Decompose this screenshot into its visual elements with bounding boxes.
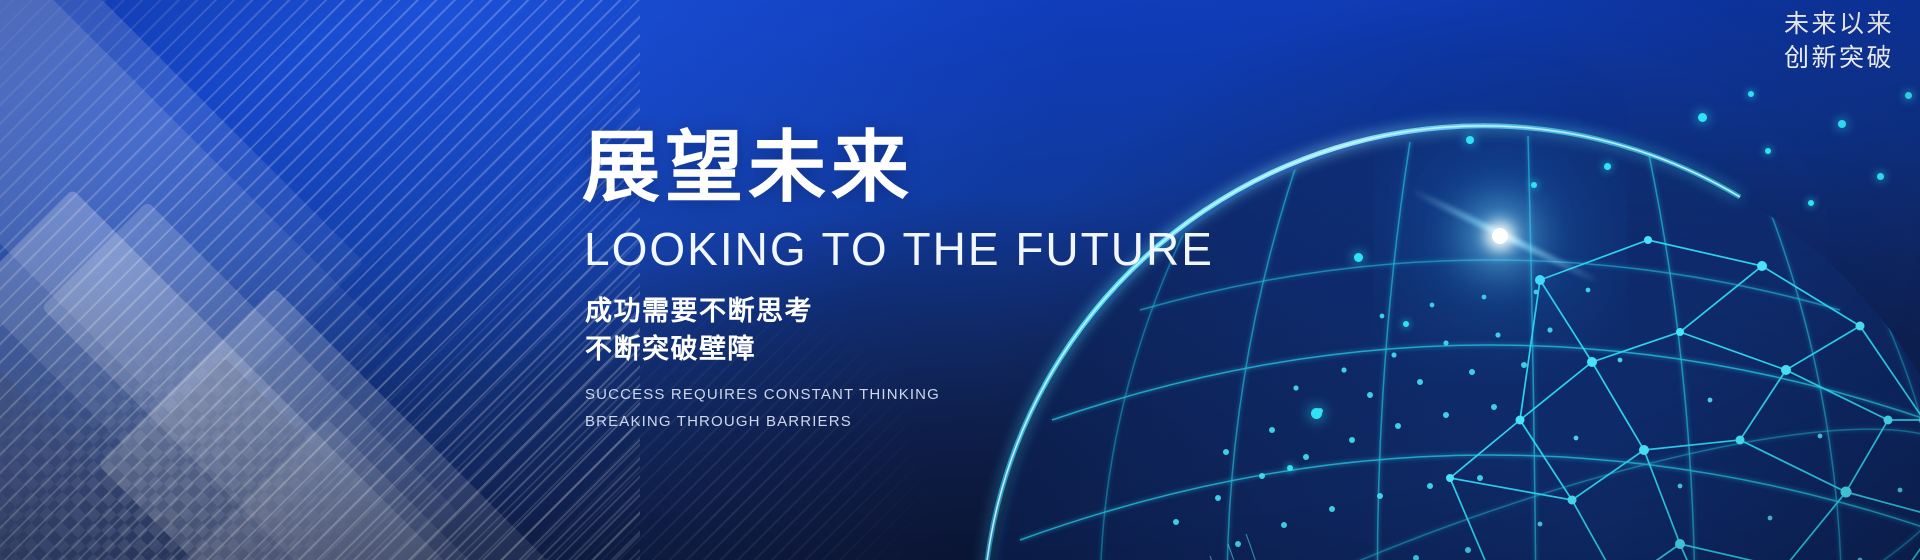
particle-dot: [1905, 92, 1912, 99]
particle-dot: [1748, 91, 1754, 97]
page-title-english: LOOKING TO THE FUTURE: [584, 226, 1142, 272]
subtitle-english-block: SUCCESS REQUIRES CONSTANT THINKING BREAK…: [582, 381, 1142, 437]
corner-slogan: 未来以来 创新突破: [1784, 8, 1894, 76]
subtitle-english-line-2: BREAKING THROUGH BARRIERS: [585, 408, 1142, 436]
subtitle-chinese-line-1: 成功需要不断思考: [585, 292, 1142, 330]
corner-slogan-line-1: 未来以来: [1784, 8, 1894, 42]
headline-copy-block: 展望未来 LOOKING TO THE FUTURE 成功需要不断思考 不断突破…: [582, 128, 1142, 436]
page-title: 展望未来: [582, 128, 1142, 206]
subtitle-chinese-line-2: 不断突破壁障: [585, 330, 1142, 368]
hero-banner: 展望未来 LOOKING TO THE FUTURE 成功需要不断思考 不断突破…: [0, 0, 1920, 560]
corner-slogan-line-2: 创新突破: [1784, 42, 1894, 76]
subtitle-english-line-1: SUCCESS REQUIRES CONSTANT THINKING: [585, 381, 1142, 409]
subtitle-chinese-block: 成功需要不断思考 不断突破壁障: [582, 292, 1142, 369]
